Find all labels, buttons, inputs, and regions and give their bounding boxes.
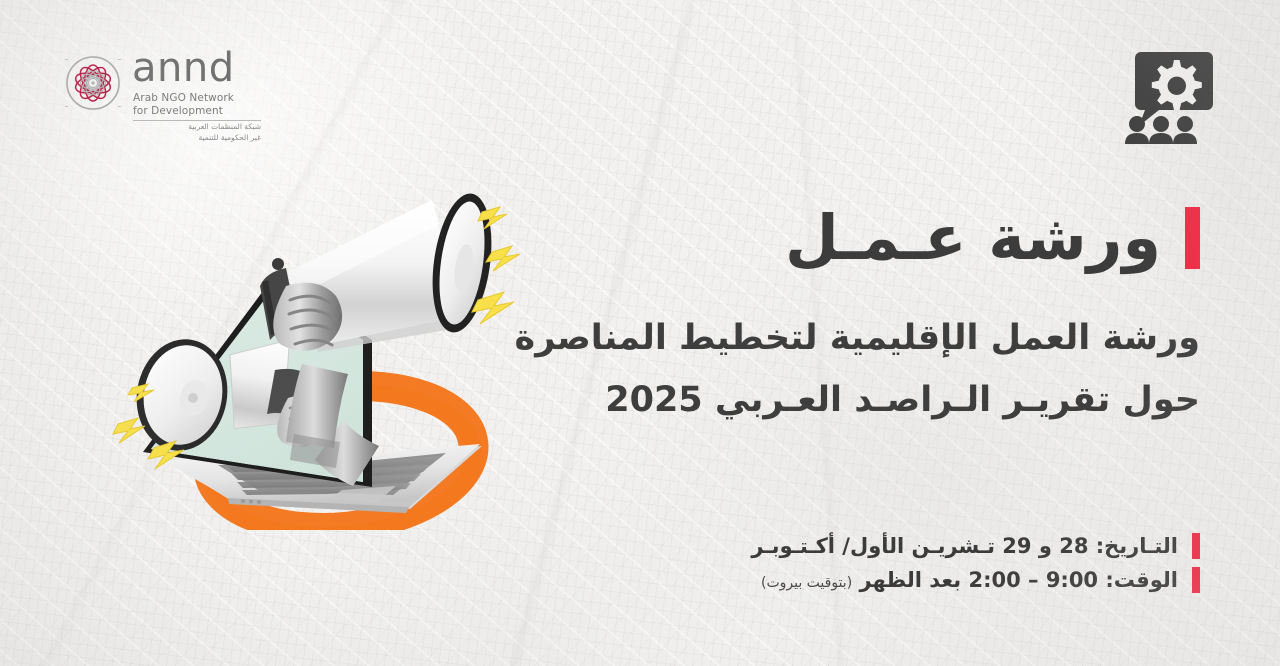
time-label: الوقت: — [1105, 568, 1178, 592]
illustration-laptop-megaphones — [110, 160, 560, 530]
poster-canvas: annd Arab NGO Network for Development شب… — [0, 0, 1280, 666]
annd-logo-divider — [133, 120, 261, 121]
annd-tagline-arabic-line2: غير الحكومية للتنمية — [133, 133, 261, 144]
annd-tagline-line1: Arab NGO Network — [133, 92, 234, 104]
time-value: 9:00 – 2:00 بعد الظهر — [859, 568, 1098, 592]
event-detail-row-time: الوقت: 9:00 – 2:00 بعد الظهر (بتوقيت بير… — [751, 567, 1200, 593]
time-accent-bar — [1192, 567, 1200, 593]
date-accent-bar — [1192, 533, 1200, 559]
date-label: التـاريخ: — [1096, 534, 1178, 558]
gear-center — [1168, 77, 1186, 95]
workshop-presentation-icon — [1123, 48, 1215, 144]
annd-tagline-arabic-line1: شبكة المنظمات العربية — [133, 122, 261, 133]
annd-tagline-line2: for Development — [133, 105, 223, 117]
headline: ورشة عـمـل — [785, 205, 1200, 270]
annd-tagline-arabic: شبكة المنظمات العربية غير الحكومية للتنم… — [133, 122, 261, 144]
date-line: التـاريخ: 28 و 29 تـشريـن الأول/ أكـتـوب… — [751, 534, 1178, 558]
subtitle-line-2: حول تقريـر الـراصـد العـربي 2025 — [605, 380, 1200, 420]
event-detail-row-date: التـاريخ: 28 و 29 تـشريـن الأول/ أكـتـوب… — [751, 533, 1200, 559]
headline-text: ورشة عـمـل — [785, 205, 1161, 270]
annd-logo: annd Arab NGO Network for Development شب… — [62, 50, 262, 145]
annd-rosette-logo-icon — [62, 52, 124, 114]
time-line: الوقت: 9:00 – 2:00 بعد الظهر (بتوقيت بير… — [761, 568, 1178, 592]
annd-wordmark: annd — [132, 48, 235, 88]
audience-icon — [1125, 116, 1197, 144]
headline-accent-bar — [1185, 207, 1200, 269]
time-timezone-note: (بتوقيت بيروت) — [761, 575, 852, 591]
date-value: 28 و 29 تـشريـن الأول/ أكـتـوبـر — [751, 534, 1088, 558]
subtitle-line-1: ورشة العمل الإقليمية لتخطيط المناصرة — [515, 318, 1200, 358]
event-details: التـاريخ: 28 و 29 تـشريـن الأول/ أكـتـوب… — [751, 533, 1200, 601]
